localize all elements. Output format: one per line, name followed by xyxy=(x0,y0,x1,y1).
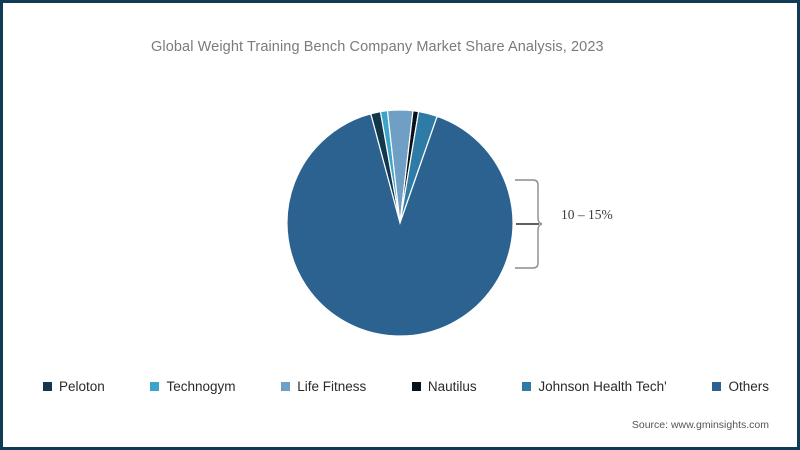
legend-item-label: Nautilus xyxy=(428,379,477,394)
legend-item-label: Life Fitness xyxy=(297,379,366,394)
legend-swatch-icon xyxy=(712,382,721,391)
pie-slice-group xyxy=(287,110,513,336)
legend-item[interactable]: Nautilus xyxy=(412,379,477,394)
legend-item-label: Johnson Health Tech' xyxy=(538,379,666,394)
legend-swatch-icon xyxy=(281,382,290,391)
legend-item-label: Technogym xyxy=(166,379,235,394)
source-note: Source: www.gminsights.com xyxy=(632,419,769,431)
pie-chart-svg xyxy=(287,110,513,336)
legend-item[interactable]: Life Fitness xyxy=(281,379,366,394)
chart-card: Global Weight Training Bench Company Mar… xyxy=(0,0,800,450)
legend-item[interactable]: Johnson Health Tech' xyxy=(522,379,666,394)
page-title: Global Weight Training Bench Company Mar… xyxy=(151,39,604,55)
bracket-icon xyxy=(515,178,565,270)
legend-swatch-icon xyxy=(522,382,531,391)
range-annotation-label: 10 – 15% xyxy=(561,207,613,223)
legend-item[interactable]: Technogym xyxy=(150,379,235,394)
legend: PelotonTechnogymLife FitnessNautilusJohn… xyxy=(43,379,769,394)
legend-item-label: Others xyxy=(728,379,769,394)
range-bracket xyxy=(515,178,565,270)
legend-item-label: Peloton xyxy=(59,379,105,394)
legend-swatch-icon xyxy=(150,382,159,391)
pie-chart xyxy=(287,110,513,336)
legend-swatch-icon xyxy=(412,382,421,391)
legend-item[interactable]: Peloton xyxy=(43,379,105,394)
legend-swatch-icon xyxy=(43,382,52,391)
legend-item[interactable]: Others xyxy=(712,379,769,394)
